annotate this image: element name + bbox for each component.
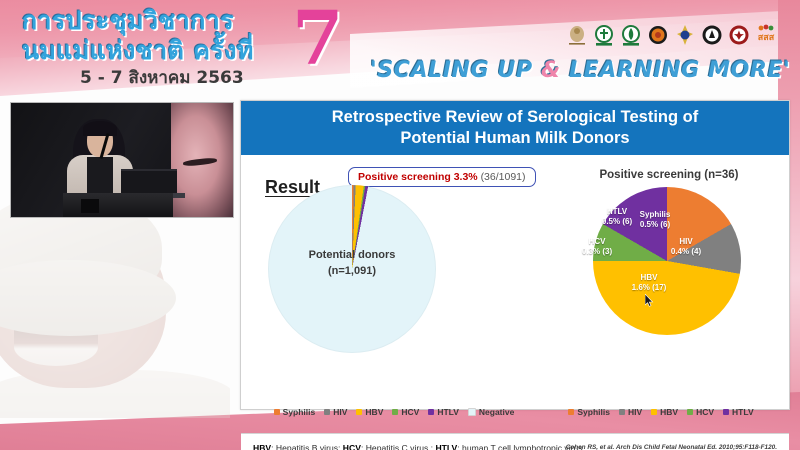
slide-footnote: HBV: Hepatitis B virus; HCV: Hepatitis C… (241, 433, 789, 450)
legend-label: Negative (479, 407, 514, 417)
callout-highlight: Positive screening 3.3% (358, 171, 478, 183)
slice-label-hcv-name: HCV (575, 237, 619, 247)
legend-item: HBV (651, 407, 678, 417)
slide-title-line2: Potential Human Milk Donors (400, 128, 629, 149)
slide-title-line1: Retrospective Review of Serological Test… (332, 107, 698, 128)
conference-tagline: 'SCALING UP & LEARNING MORE' (370, 58, 790, 83)
tagline-ampersand: & (541, 58, 561, 83)
legend-label: HCV (401, 407, 419, 417)
legend-item: HCV (687, 407, 714, 417)
hcv-value: : Hepatitis C virus ; (361, 443, 436, 450)
legend-label: HCV (696, 407, 714, 417)
legend-label: HBV (365, 407, 383, 417)
speaker-fringe (83, 121, 117, 136)
conference-thai-title-line2: นมแม่แห่งชาติ ครั้งที่ (22, 36, 322, 66)
royal-college-logo (674, 24, 696, 48)
legend-swatch (468, 408, 476, 416)
citation-reference: Cohen RS, et al. Arch Dis Child Fetal Ne… (566, 444, 777, 450)
slice-label-hiv-name: HIV (661, 237, 711, 247)
legend-item: HCV (392, 407, 419, 417)
legend-swatch (568, 409, 574, 415)
conference-edition-number: 7 (292, 2, 344, 76)
positive-screening-callout: Positive screening 3.3% (36/1091) (348, 167, 536, 187)
slice-label-hbv: HBV 1.6% (17) (621, 273, 677, 293)
conference-thai-title-line1: การประชุมวิชาการ (22, 6, 234, 35)
thai-pediatric-logo (647, 24, 669, 48)
hcv-key: HCV (343, 443, 361, 450)
legend-potential-donors: SyphilisHIVHBVHCVHTLVNegative (269, 407, 519, 417)
public-health-logo (620, 24, 642, 48)
legend-item: Syphilis (274, 407, 316, 417)
legend-item: HTLV (723, 407, 754, 417)
slide-panel: Retrospective Review of Serological Test… (240, 100, 790, 410)
legend-label: HTLV (732, 407, 754, 417)
abbreviation-key: HBV: Hepatitis B virus; HCV: Hepatitis C… (253, 443, 583, 450)
legend-item: Syphilis (568, 407, 610, 417)
tagline-part1: 'SCALING UP (370, 58, 541, 83)
potential-donors-title: Potential donors (268, 247, 436, 263)
legend-swatch (356, 409, 362, 415)
legend-swatch (723, 409, 729, 415)
royal-emblem-logo (566, 24, 588, 48)
legend-swatch (687, 409, 693, 415)
medical-council-logo (728, 24, 750, 48)
slice-label-htlv-name: HTLV (593, 207, 641, 217)
slide-body: Result Positive screening 3.3% (36/1091)… (241, 155, 789, 379)
tagline-part2: LEARNING MORE' (561, 58, 791, 83)
legend-item: Negative (468, 407, 514, 417)
slice-label-htlv: HTLV 0.5% (6) (593, 207, 641, 227)
legend-label: HIV (628, 407, 642, 417)
slice-label-htlv-value: 0.5% (6) (593, 217, 641, 227)
legend-label: Syphilis (577, 407, 610, 417)
legend-swatch (392, 409, 398, 415)
svg-text:สสส: สสส (758, 33, 775, 43)
thaihealth-sss-logo: สสส (755, 24, 777, 48)
htlv-key: HTLV (435, 443, 457, 450)
callout-detail: (36/1091) (481, 171, 526, 183)
child-photo-watermark (0, 198, 230, 418)
legend-label: Syphilis (283, 407, 316, 417)
hbv-key: HBV (253, 443, 271, 450)
legend-item: HIV (324, 407, 347, 417)
potential-donors-subtitle: (n=1,091) (268, 263, 436, 279)
legend-label: HTLV (437, 407, 459, 417)
legend-item: HTLV (428, 407, 459, 417)
presentation-screen: การประชุมวิชาการ นมแม่แห่งชาติ ครั้งที่ … (0, 0, 800, 450)
potential-donors-pie-label: Potential donors (n=1,091) (268, 247, 436, 279)
legend-swatch (428, 409, 434, 415)
hbv-value: : Hepatitis B virus; (271, 443, 343, 450)
slide-title-bar: Retrospective Review of Serological Test… (241, 101, 789, 155)
legend-swatch (274, 409, 280, 415)
legend-positive-screening: SyphilisHIVHBVHCVHTLV (541, 407, 781, 417)
legend-swatch (324, 409, 330, 415)
conference-thai-title: การประชุมวิชาการ นมแม่แห่งชาติ ครั้งที่ (22, 6, 322, 66)
podium (63, 193, 173, 217)
slice-label-hbv-name: HBV (621, 273, 677, 283)
slice-label-hiv-value: 0.4% (4) (661, 247, 711, 257)
slice-label-hiv: HIV 0.4% (4) (661, 237, 711, 257)
nursing-council-logo (701, 24, 723, 48)
legend-item: HIV (619, 407, 642, 417)
legend-swatch (619, 409, 625, 415)
legend-item: HBV (356, 407, 383, 417)
sponsor-logo-strip: สสส (566, 24, 777, 48)
speaker-video-feed[interactable] (10, 102, 234, 218)
slice-label-hbv-value: 1.6% (17) (621, 283, 677, 293)
positive-screening-pie-title: Positive screening (n=36) (557, 169, 781, 181)
slice-label-hcv: HCV 0.3% (3) (575, 237, 619, 257)
slice-label-hcv-value: 0.3% (3) (575, 247, 619, 257)
ministry-health-logo (593, 24, 615, 48)
htlv-value: : human T cell lymphotropic virus (457, 443, 582, 450)
conference-date: 5 - 7 สิงหาคม 2563 (80, 64, 244, 91)
legend-swatch (651, 409, 657, 415)
mouse-cursor-icon (645, 294, 654, 307)
podium-plate (81, 199, 99, 213)
legend-label: HIV (333, 407, 347, 417)
legend-label: HBV (660, 407, 678, 417)
